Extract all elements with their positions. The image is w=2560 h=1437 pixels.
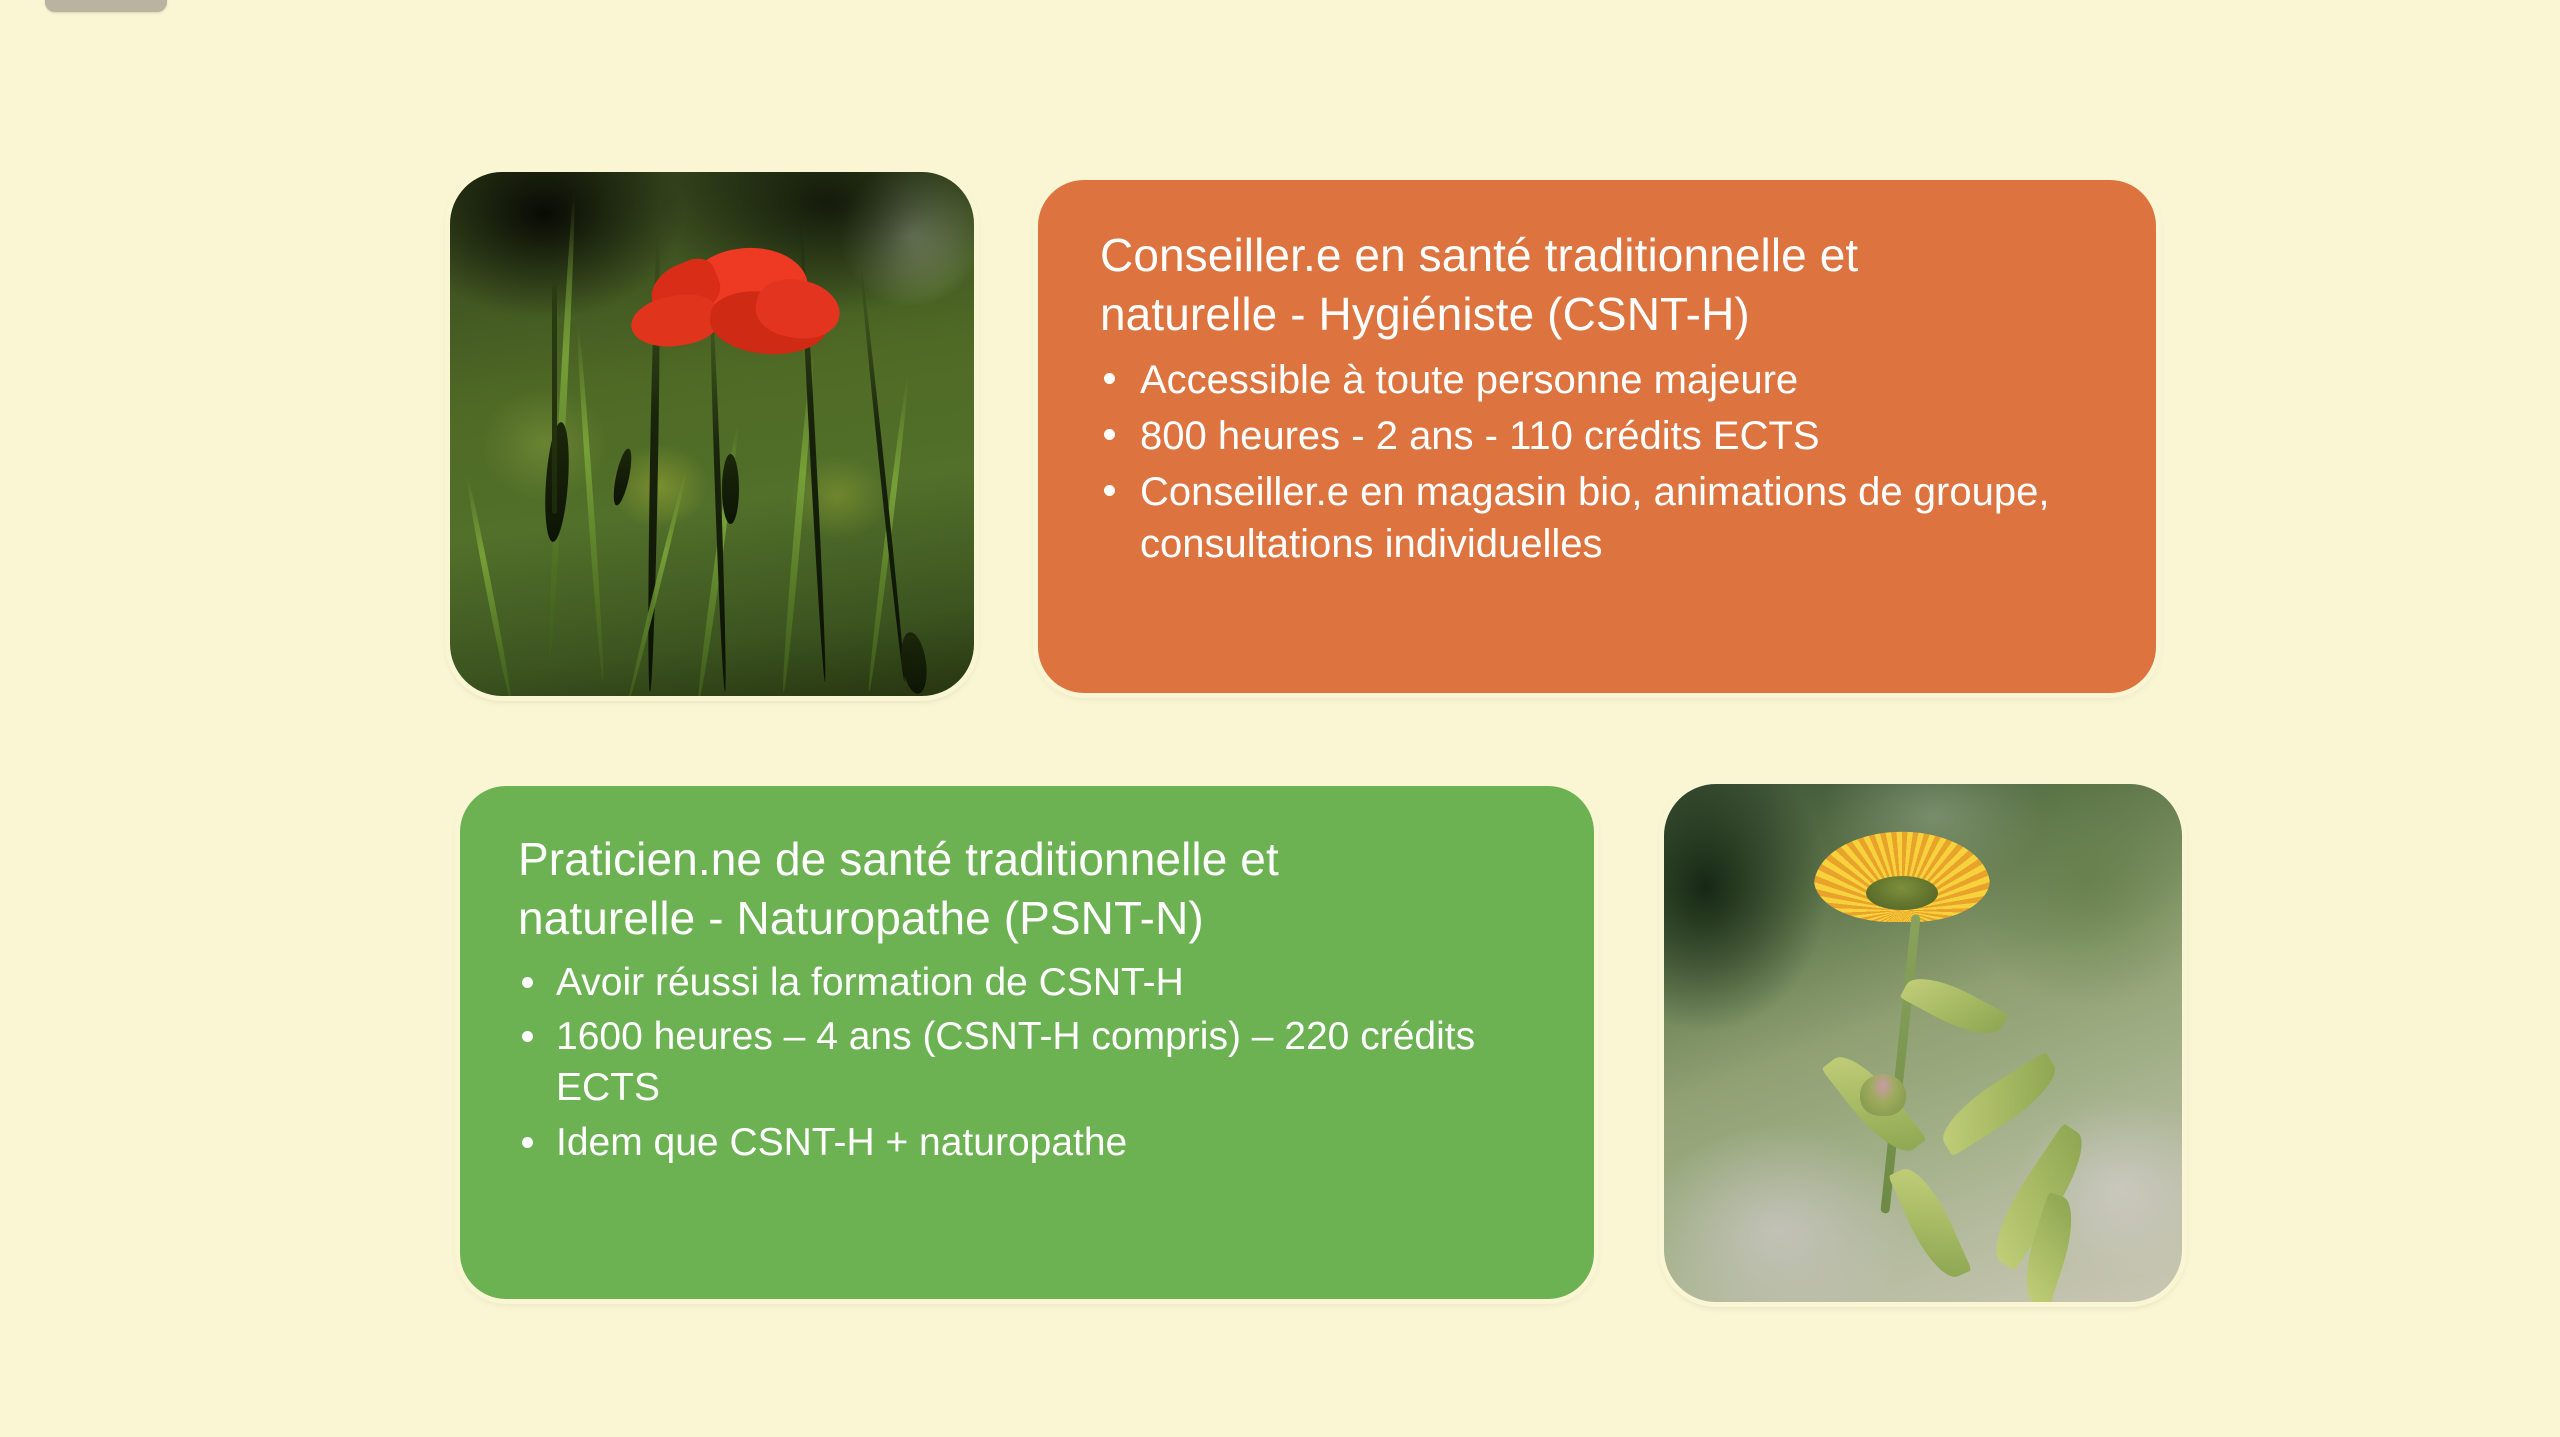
calendula-photo-content [1664,784,2182,1302]
list-item: Idem que CSNT-H + naturopathe [510,1118,1540,1169]
poppy-bloom [628,240,848,390]
top-left-grey-tab [45,0,167,12]
card-psnt-n[interactable]: Praticien.ne de santé traditionnelle et … [460,786,1594,1299]
card-csnt-h-title: Conseiller.e en santé traditionnelle et … [1100,226,2102,344]
list-item: Conseiller.e en magasin bio, animations … [1092,466,2102,570]
card-csnt-h-bullet-list: Accessible à toute personne majeure 800 … [1092,354,2102,570]
list-item: 1600 heures – 4 ans (CSNT-H compris) – 2… [510,1012,1540,1113]
poppy-stem [552,284,557,514]
list-item: Accessible à toute personne majeure [1092,354,2102,406]
card-csnt-h[interactable]: Conseiller.e en santé traditionnelle et … [1038,180,2156,693]
card-psnt-n-title: Praticien.ne de santé traditionnelle et … [518,830,1540,948]
list-item: 800 heures - 2 ans - 110 crédits ECTS [1092,410,2102,462]
poppy-photo-content [450,172,974,696]
card-psnt-n-bullet-list: Avoir réussi la formation de CSNT-H 1600… [510,958,1540,1169]
slide-canvas: Conseiller.e en santé traditionnelle et … [0,0,2560,1437]
calendula-bud [1860,1074,1906,1116]
yellow-calendula-flower-photo [1664,784,2182,1302]
calendula-stem [1880,914,1920,1213]
red-poppy-in-meadow-photo [450,172,974,696]
calendula-bloom [1814,826,1990,922]
list-item: Avoir réussi la formation de CSNT-H [510,958,1540,1009]
